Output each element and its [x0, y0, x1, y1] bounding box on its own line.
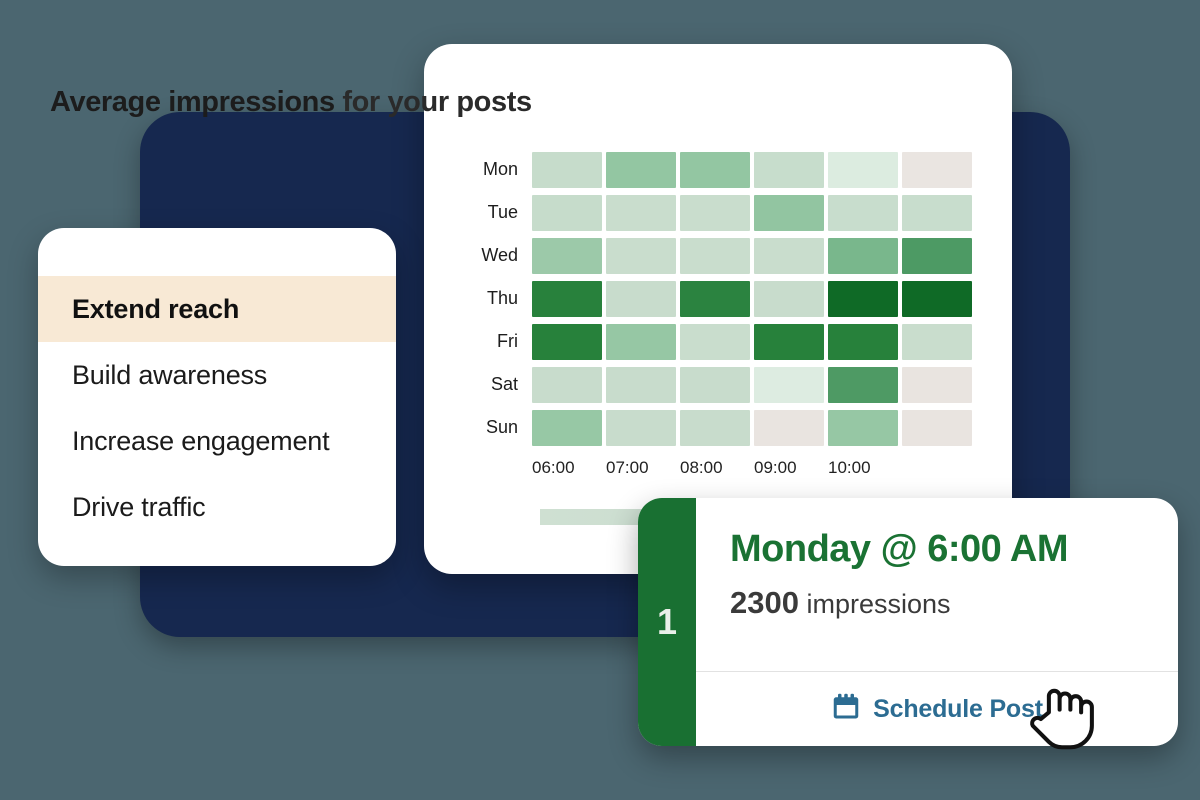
heatmap-cell[interactable] [532, 281, 602, 317]
heatmap-cell[interactable] [680, 367, 750, 403]
heatmap-row-cells [532, 238, 976, 274]
heatmap-row-cells [532, 281, 976, 317]
heatmap-x-tick: 10:00 [828, 458, 902, 478]
impressions-value: 2300 [730, 585, 799, 620]
heatmap-row: Fri [470, 320, 976, 363]
heatmap-cell[interactable] [754, 238, 824, 274]
schedule-post-button[interactable]: Schedule Post [696, 671, 1178, 746]
heatmap-cell[interactable] [902, 195, 972, 231]
heatmap-cell[interactable] [828, 152, 898, 188]
heatmap-cell[interactable] [680, 195, 750, 231]
impressions-label: impressions [806, 589, 950, 619]
heatmap-cell[interactable] [606, 238, 676, 274]
heatmap-x-tick: 07:00 [606, 458, 680, 478]
heatmap-row-label: Thu [470, 288, 532, 309]
heatmap-row-cells [532, 324, 976, 360]
goal-list-item-drive-traffic[interactable]: Drive traffic [38, 474, 396, 540]
best-time-detail-card: 1 Monday @ 6:00 AM 2300 impressions [638, 498, 1178, 746]
heatmap-row-cells [532, 195, 976, 231]
heatmap-row: Mon [470, 148, 976, 191]
heatmap-row-label: Mon [470, 159, 532, 180]
heatmap-row: Wed [470, 234, 976, 277]
heatmap-row: Sat [470, 363, 976, 406]
heatmap-x-tick: 08:00 [680, 458, 754, 478]
heatmap-cell[interactable] [606, 152, 676, 188]
heatmap-cell[interactable] [902, 410, 972, 446]
heatmap-row-label: Wed [470, 245, 532, 266]
heatmap-row: Tue [470, 191, 976, 234]
chart-title-emphasis: Average impressions [50, 86, 335, 118]
detail-body: Monday @ 6:00 AM 2300 impressions Schedu… [696, 498, 1178, 746]
heatmap-row-label: Fri [470, 331, 532, 352]
heatmap-cell[interactable] [902, 324, 972, 360]
heatmap-cell[interactable] [754, 152, 824, 188]
heatmap-cell[interactable] [680, 324, 750, 360]
heatmap-cell[interactable] [532, 195, 602, 231]
heatmap-row-label: Sun [470, 417, 532, 438]
heatmap-cell[interactable] [828, 281, 898, 317]
goal-list-item-label: Build awareness [72, 360, 267, 391]
goal-list-item-label: Extend reach [72, 294, 239, 325]
chart-title-rest: for your posts [335, 86, 532, 118]
heatmap-cell[interactable] [532, 410, 602, 446]
heatmap-row-cells [532, 152, 976, 188]
best-time-headline: Monday @ 6:00 AM [730, 528, 1178, 571]
heatmap-cell[interactable] [902, 367, 972, 403]
heatmap-cell[interactable] [606, 281, 676, 317]
heatmap-cell[interactable] [606, 367, 676, 403]
heatmap-row-cells [532, 367, 976, 403]
goal-list: Extend reach Build awareness Increase en… [38, 228, 396, 540]
heatmap-cell[interactable] [828, 195, 898, 231]
heatmap-cell[interactable] [606, 410, 676, 446]
heatmap-cell[interactable] [902, 281, 972, 317]
heatmap-x-tick: 06:00 [532, 458, 606, 478]
heatmap-cell[interactable] [754, 281, 824, 317]
screenshot-stage: Extend reach Build awareness Increase en… [0, 0, 1200, 800]
impressions-heatmap: MonTueWedThuFriSatSun [470, 148, 976, 449]
heatmap-cell[interactable] [754, 410, 824, 446]
detail-top: Monday @ 6:00 AM 2300 impressions [696, 498, 1178, 671]
heatmap-cell[interactable] [828, 324, 898, 360]
heatmap-cell[interactable] [754, 367, 824, 403]
heatmap-cell[interactable] [532, 324, 602, 360]
heatmap-cell[interactable] [532, 367, 602, 403]
heatmap-row-cells [532, 410, 976, 446]
chart-title: Average impressions for your posts [50, 86, 532, 119]
heatmap-cell[interactable] [680, 152, 750, 188]
heatmap-cell[interactable] [680, 410, 750, 446]
heatmap-cell[interactable] [680, 238, 750, 274]
heatmap-cell[interactable] [532, 152, 602, 188]
heatmap-cell[interactable] [606, 324, 676, 360]
heatmap-x-tick: 09:00 [754, 458, 828, 478]
impressions-line: 2300 impressions [730, 585, 1178, 621]
calendar-icon [831, 692, 861, 727]
goal-list-item-increase-engagement[interactable]: Increase engagement [38, 408, 396, 474]
heatmap-cell[interactable] [828, 410, 898, 446]
heatmap-cell[interactable] [532, 238, 602, 274]
heatmap-cell[interactable] [902, 238, 972, 274]
goal-list-item-extend-reach[interactable]: Extend reach [38, 276, 396, 342]
heatmap-cell[interactable] [754, 324, 824, 360]
rank-badge: 1 [638, 498, 696, 746]
heatmap-row: Thu [470, 277, 976, 320]
schedule-post-label: Schedule Post [873, 695, 1043, 724]
heatmap-x-axis: 06:0007:0008:0009:0010:00 [532, 458, 902, 478]
heatmap-cell[interactable] [828, 238, 898, 274]
heatmap-row-label: Sat [470, 374, 532, 395]
goal-list-item-build-awareness[interactable]: Build awareness [38, 342, 396, 408]
heatmap-cell[interactable] [902, 152, 972, 188]
heatmap-row-label: Tue [470, 202, 532, 223]
heatmap-cell[interactable] [828, 367, 898, 403]
heatmap-cell[interactable] [754, 195, 824, 231]
heatmap-row: Sun [470, 406, 976, 449]
goal-list-card: Extend reach Build awareness Increase en… [38, 228, 396, 566]
heatmap-cell[interactable] [680, 281, 750, 317]
heatmap-cell[interactable] [606, 195, 676, 231]
goal-list-item-label: Increase engagement [72, 426, 329, 457]
goal-list-item-label: Drive traffic [72, 492, 205, 523]
